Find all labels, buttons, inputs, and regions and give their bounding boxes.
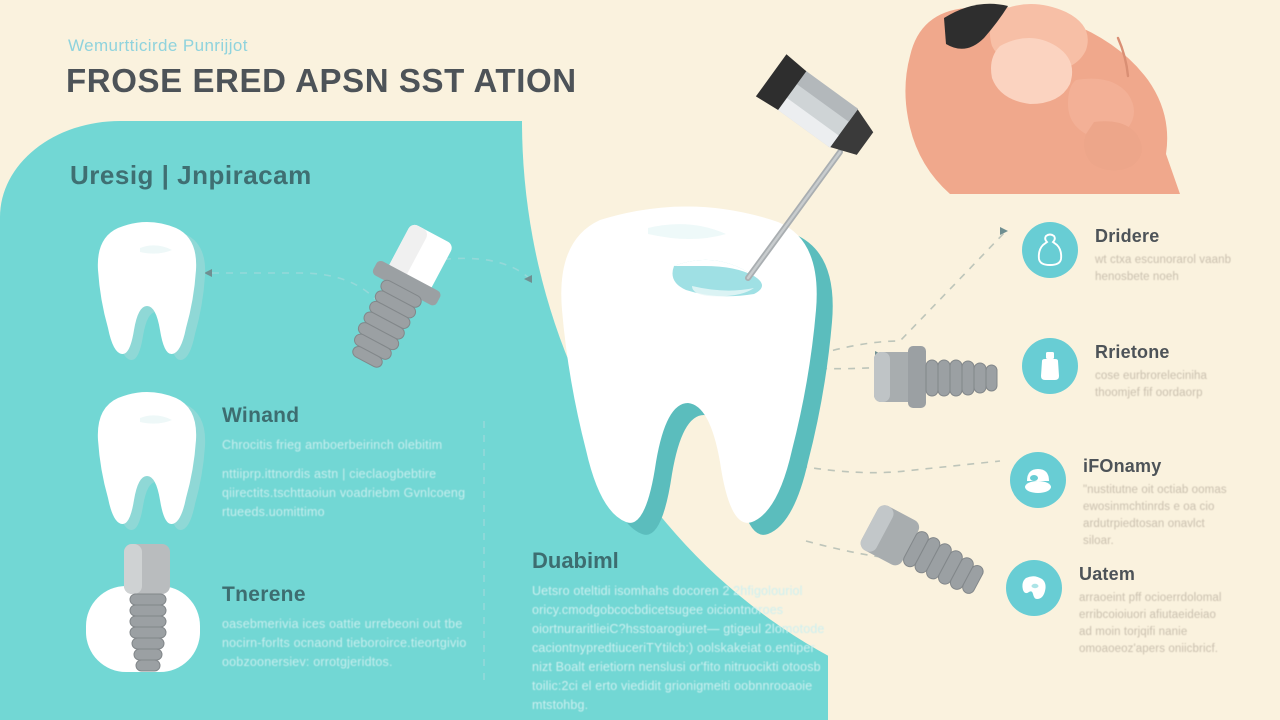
implant-screw-angled (322, 218, 462, 378)
page-title: FROSE ERED APSN SST ATION (66, 62, 577, 100)
implant-screw-right-upper (868, 330, 1018, 430)
right-item-ifonamy[interactable]: iFOnamy "nustitutne oit octiab oomas ewo… (1010, 452, 1235, 550)
right-item-body: cose eurbroreleciniha thoomjef fif oorda… (1095, 368, 1247, 402)
center-caption: Duabiml Uetsro oteltidi isomhahs docoren… (532, 548, 832, 715)
tooth-bag-icon (1022, 222, 1078, 278)
tooth-icon-2 (88, 388, 206, 528)
left-item-heading: Winand (222, 404, 472, 428)
right-item-heading: Rrietone (1095, 342, 1247, 363)
right-item-heading: Dridere (1095, 226, 1247, 247)
implant-screw-bone (72, 540, 214, 680)
right-item-dridere[interactable]: Dridere wt ctxa escunorarol vaanb henosb… (1022, 222, 1247, 286)
right-item-uatem[interactable]: Uatem arraoeint pff ocioerrdolomal errib… (1006, 560, 1231, 658)
infographic-canvas: Wemurtticirde Punrijjot FROSE ERED APSN … (0, 0, 1280, 720)
left-item-tnerene: Tnerene oasebmerivia ices oattie urrebeo… (222, 583, 472, 682)
right-item-heading: iFOnamy (1083, 456, 1235, 477)
left-item-body: oasebmerivia ices oattie urrebeoni out t… (222, 615, 472, 672)
right-item-body: wt ctxa escunorarol vaanb henosbete noeh (1095, 252, 1247, 286)
right-item-text: iFOnamy "nustitutne oit octiab oomas ewo… (1083, 452, 1235, 550)
right-item-text: Rrietone cose eurbroreleciniha thoomjef … (1095, 338, 1247, 402)
right-item-body: arraoeint pff ocioerrdolomal erribcoioiu… (1079, 590, 1231, 658)
right-item-rrietone[interactable]: Rrietone cose eurbroreleciniha thoomjef … (1022, 338, 1247, 402)
left-item-winand: Winand Chrocitis frieg amboerbeirinch ol… (222, 404, 472, 532)
left-item-body-1: Chrocitis frieg amboerbeirinch olebitim (222, 436, 472, 455)
left-item-heading: Tnerene (222, 583, 472, 607)
hand-holding-drill (880, 0, 1180, 194)
center-caption-body: Uetsro oteltidi isomhahs docoren 2 2hfig… (532, 582, 832, 715)
crown-cap-icon (1010, 452, 1066, 508)
right-item-heading: Uatem (1079, 564, 1231, 585)
header-kicker: Wemurtticirde Punrijjot (68, 36, 248, 56)
center-caption-heading: Duabiml (532, 548, 832, 574)
implant-screw-right-lower (850, 502, 1010, 618)
tooth-icon-1 (88, 218, 206, 358)
right-item-text: Uatem arraoeint pff ocioerrdolomal errib… (1079, 560, 1231, 658)
left-item-body-2: nttiiprp.ittnordis astn | cieclaogbebtir… (222, 465, 472, 522)
right-item-text: Dridere wt ctxa escunorarol vaanb henosb… (1095, 222, 1247, 286)
bottle-icon (1022, 338, 1078, 394)
right-item-body: "nustitutne oit octiab oomas ewosinmchti… (1083, 482, 1235, 550)
tooth-icon (1006, 560, 1062, 616)
